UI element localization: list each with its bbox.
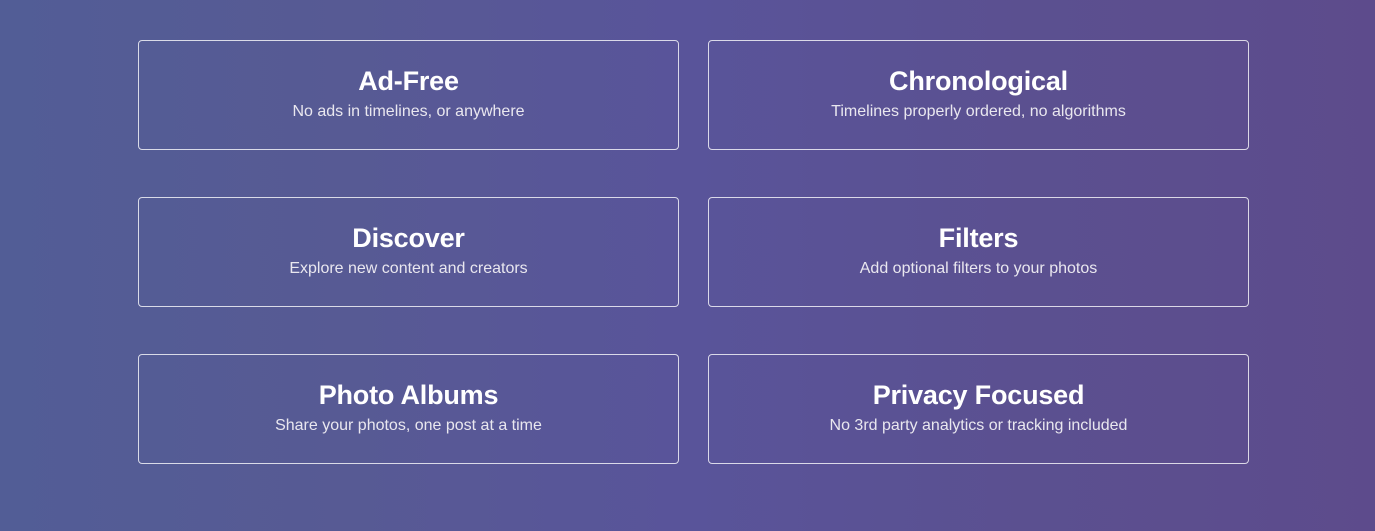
feature-card-subtitle: Explore new content and creators <box>289 258 527 280</box>
feature-card-filters[interactable]: Filters Add optional filters to your pho… <box>708 197 1249 307</box>
feature-card-discover[interactable]: Discover Explore new content and creator… <box>138 197 679 307</box>
feature-card-title: Filters <box>939 224 1019 254</box>
feature-card-subtitle: Add optional filters to your photos <box>860 258 1097 280</box>
feature-card-ad-free[interactable]: Ad-Free No ads in timelines, or anywhere <box>138 40 679 150</box>
feature-card-title: Chronological <box>889 67 1068 97</box>
feature-card-privacy-focused[interactable]: Privacy Focused No 3rd party analytics o… <box>708 354 1249 464</box>
feature-card-title: Ad-Free <box>358 67 459 97</box>
feature-card-title: Privacy Focused <box>873 381 1085 411</box>
feature-card-subtitle: Share your photos, one post at a time <box>275 415 542 437</box>
feature-card-title: Discover <box>352 224 464 254</box>
feature-card-subtitle: No ads in timelines, or anywhere <box>292 101 524 123</box>
feature-grid: Ad-Free No ads in timelines, or anywhere… <box>138 40 1249 464</box>
feature-card-photo-albums[interactable]: Photo Albums Share your photos, one post… <box>138 354 679 464</box>
feature-card-subtitle: No 3rd party analytics or tracking inclu… <box>830 415 1128 437</box>
feature-card-title: Photo Albums <box>319 381 499 411</box>
features-section: Ad-Free No ads in timelines, or anywhere… <box>0 0 1375 531</box>
feature-card-subtitle: Timelines properly ordered, no algorithm… <box>831 101 1126 123</box>
feature-card-chronological[interactable]: Chronological Timelines properly ordered… <box>708 40 1249 150</box>
